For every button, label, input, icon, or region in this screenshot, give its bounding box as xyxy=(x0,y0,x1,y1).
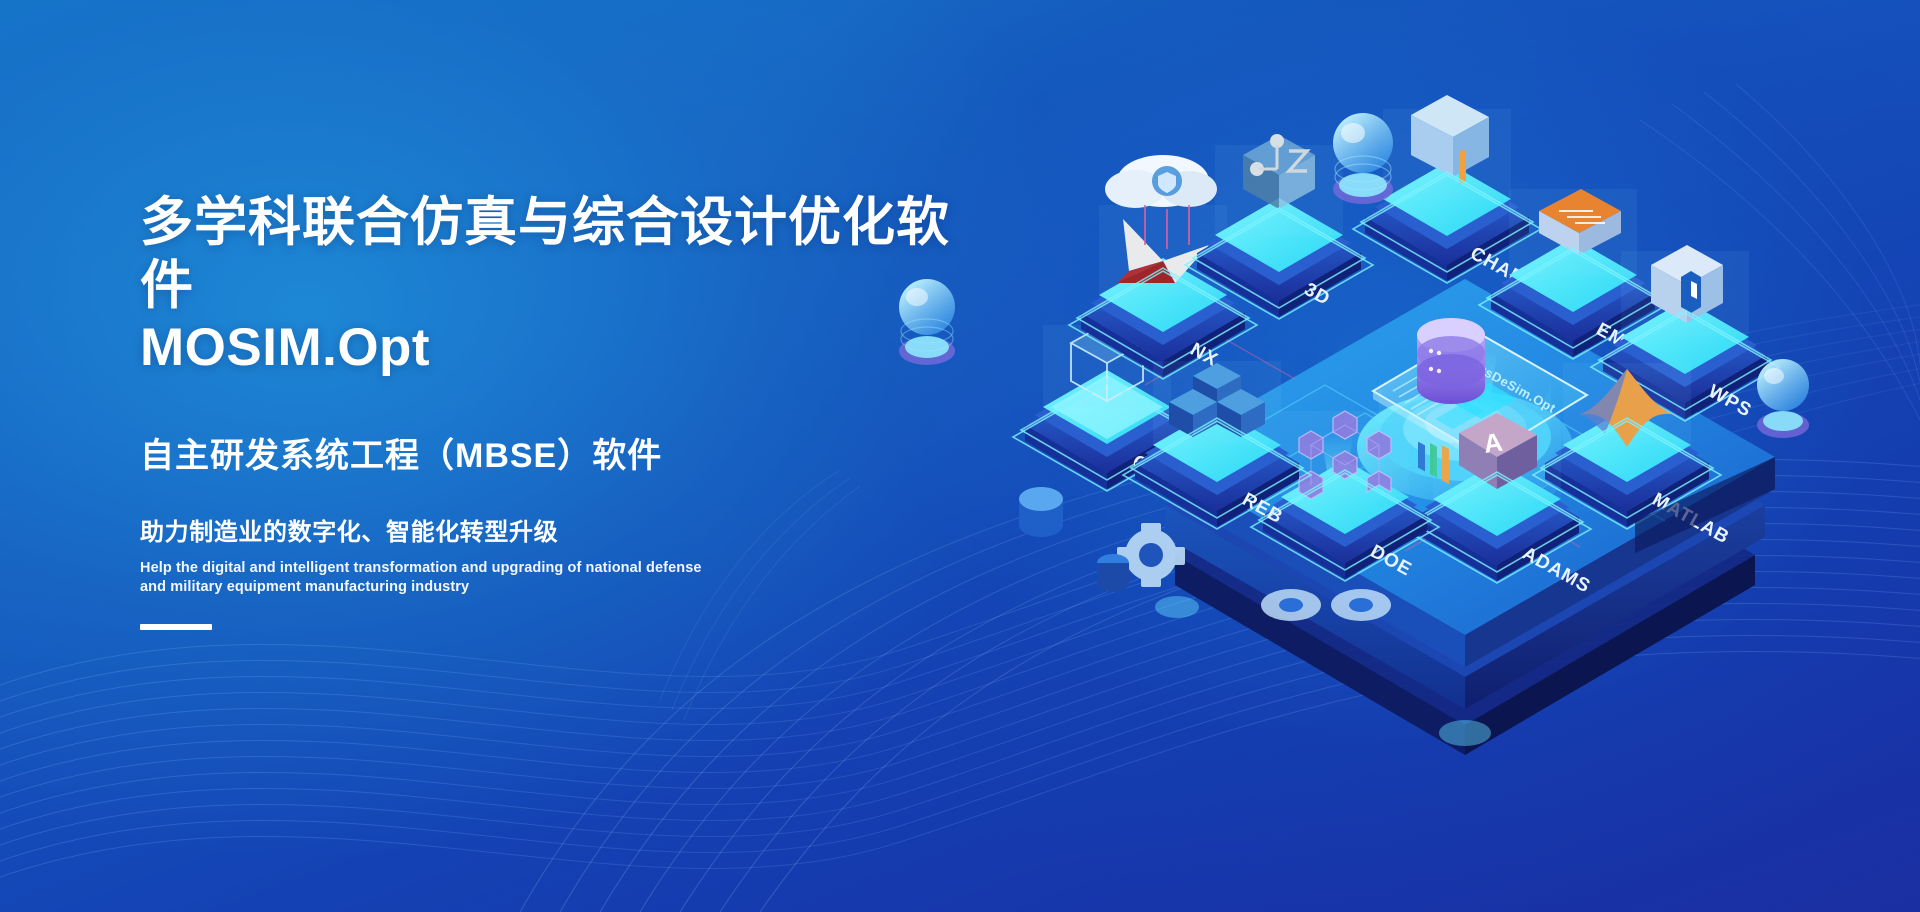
isometric-illustration: SysDeSim.Opt xyxy=(845,85,1905,665)
glass-sphere-icon xyxy=(899,279,955,365)
page-title: 多学科联合仿真与综合设计优化软件 MOSIM.Opt xyxy=(140,192,960,380)
tagline-chinese: 助力制造业的数字化、智能化转型升级 xyxy=(140,512,960,547)
hero-text-block: 多学科联合仿真与综合设计优化软件 MOSIM.Opt 自主研发系统工程（MBSE… xyxy=(140,192,960,630)
hero-banner: 多学科联合仿真与综合设计优化软件 MOSIM.Opt 自主研发系统工程（MBSE… xyxy=(0,0,1920,912)
gear-shaft-icon xyxy=(1019,487,1185,592)
database-cylinder-icon xyxy=(1417,318,1485,404)
accent-underline xyxy=(140,624,212,630)
glass-sphere-icon xyxy=(1757,359,1809,438)
headline-line-2: MOSIM.Opt xyxy=(140,317,960,380)
headline-line-1: 多学科联合仿真与综合设计优化软件 xyxy=(140,193,950,315)
tagline-english: Help the digital and intelligent transfo… xyxy=(140,559,715,598)
glass-sphere-icon xyxy=(1333,113,1393,204)
subheadline: 自主研发系统工程（MBSE）软件 xyxy=(140,434,960,478)
